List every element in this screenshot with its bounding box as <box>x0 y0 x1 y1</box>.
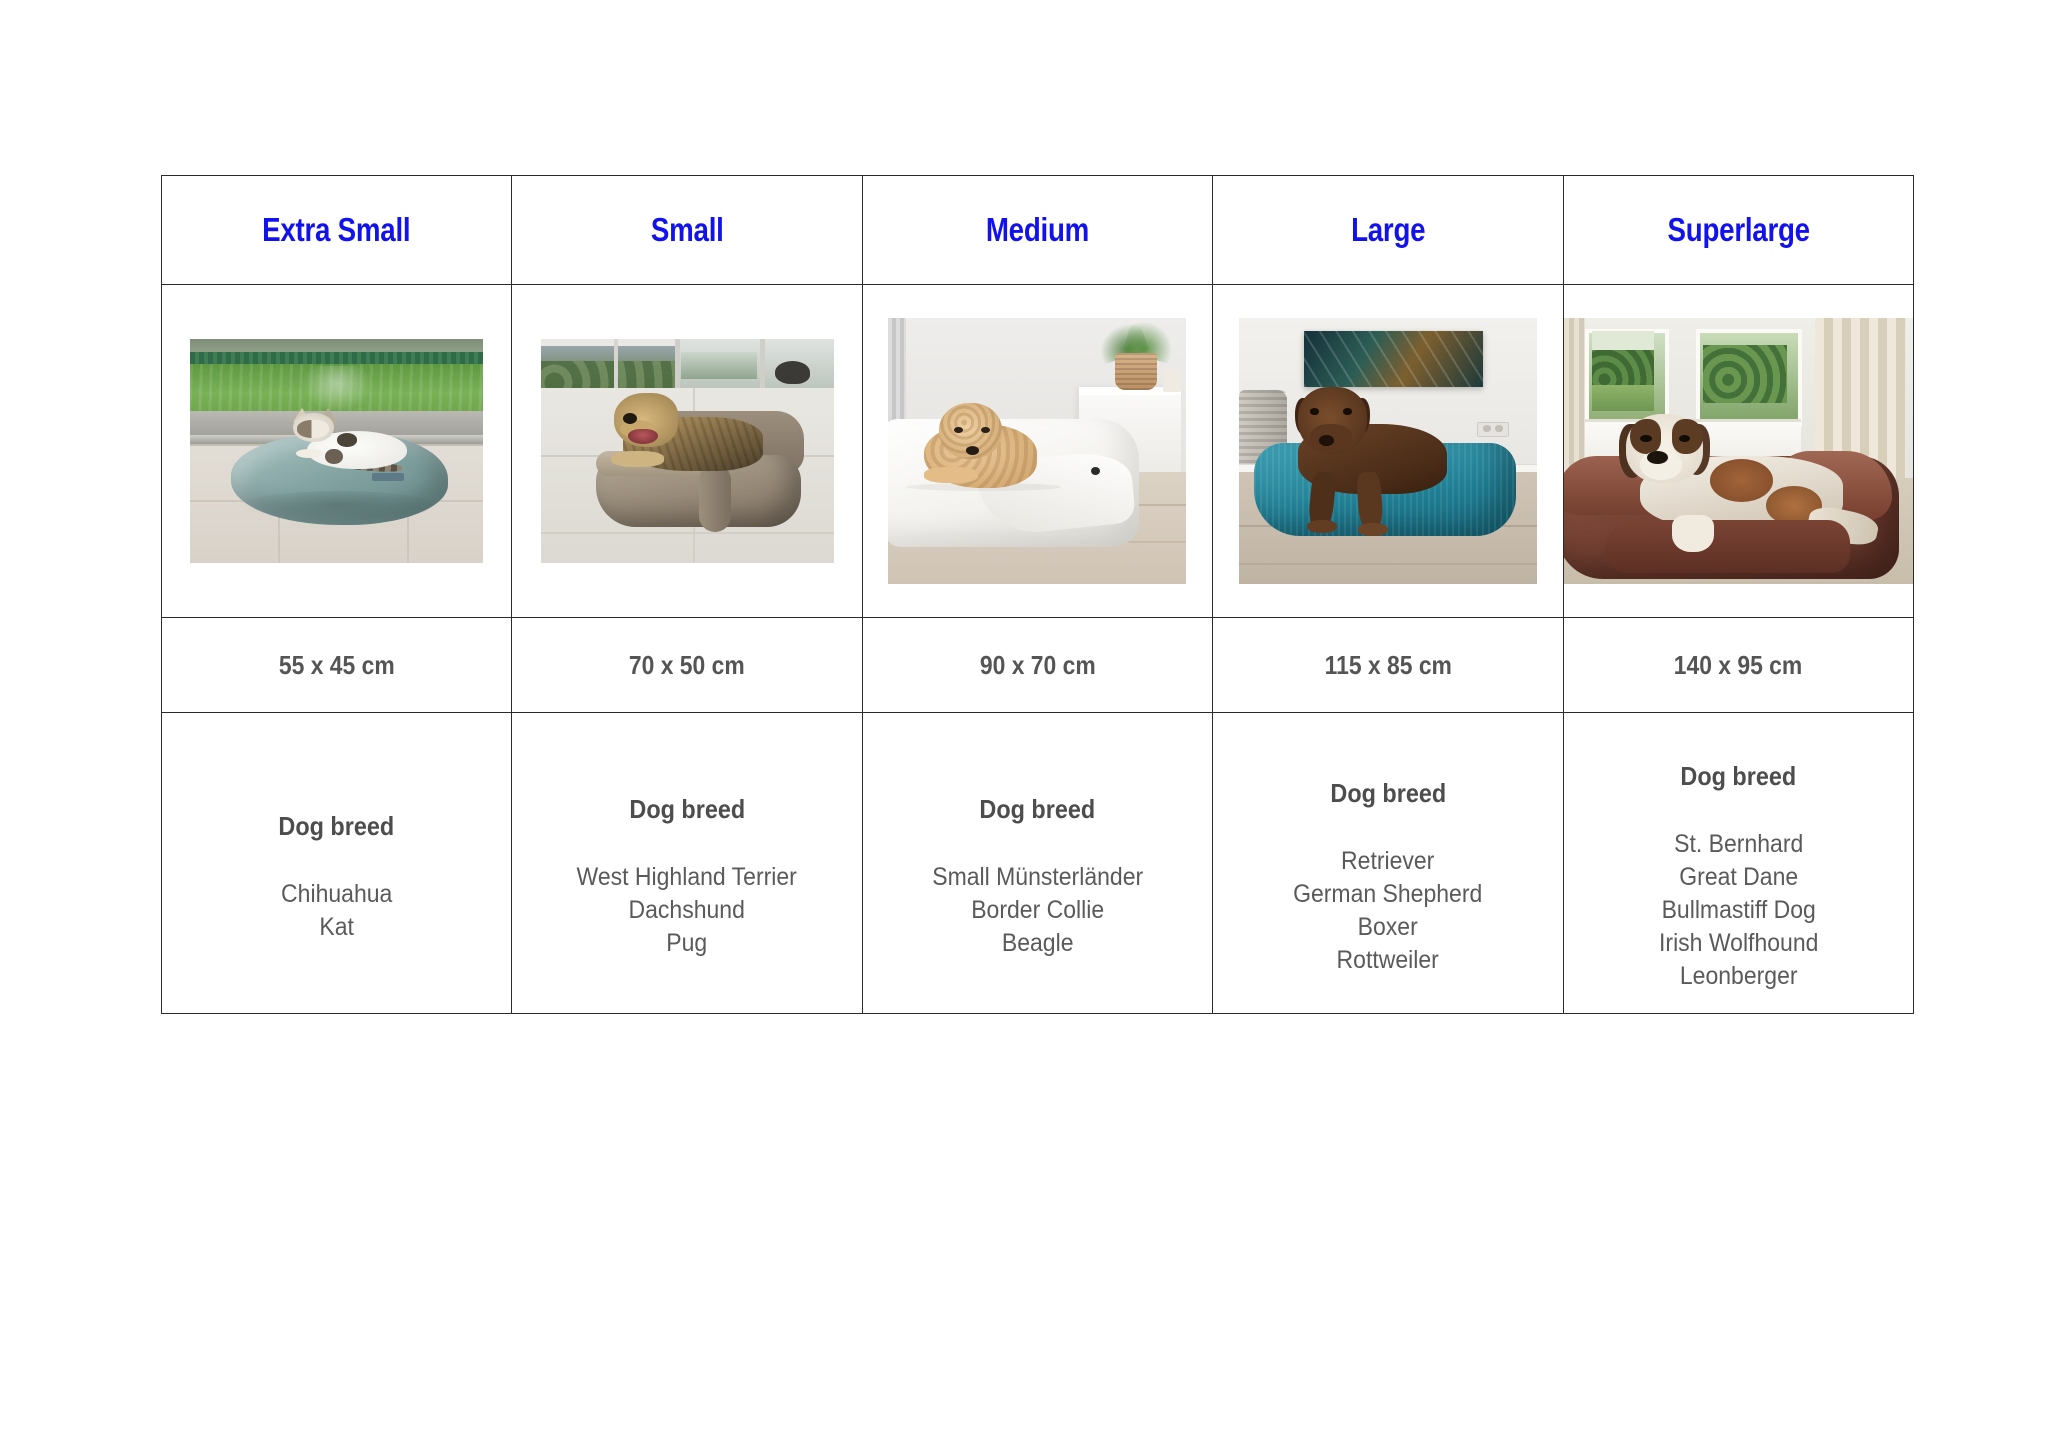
dimensions-cell-superlarge: 140 x 95 cm <box>1563 618 1913 713</box>
breed-item: German Shepherd <box>1227 878 1548 911</box>
size-name-large: Large <box>1351 211 1425 249</box>
photo-wrapper-large <box>1213 285 1562 617</box>
breed-item: Boxer <box>1227 911 1548 944</box>
dimensions-medium: 90 x 70 cm <box>980 650 1096 681</box>
dimensions-cell-medium: 90 x 70 cm <box>862 618 1212 713</box>
breed-item: Dachshund <box>526 894 847 927</box>
photo-wrapper-superlarge <box>1564 285 1913 617</box>
photo-cell-large <box>1213 285 1563 618</box>
breed-list-superlarge: St. Bernhard Great Dane Bullmastiff Dog … <box>1564 828 1913 993</box>
breed-item: Leonberger <box>1578 960 1899 993</box>
header-cell-extra-small: Extra Small <box>162 176 512 285</box>
dimensions-cell-large: 115 x 85 cm <box>1213 618 1563 713</box>
breed-item: Border Collie <box>877 894 1198 927</box>
table-photo-row <box>162 285 1914 618</box>
photo-cell-extra-small <box>162 285 512 618</box>
breeds-cell-medium: Dog breed Small Münsterländer Border Col… <box>862 713 1212 1014</box>
breed-list-small: West Highland Terrier Dachshund Pug <box>512 861 861 960</box>
breed-list-large: Retriever German Shepherd Boxer Rottweil… <box>1213 845 1562 977</box>
breed-title-superlarge: Dog breed <box>1680 761 1796 792</box>
header-cell-medium: Medium <box>862 176 1212 285</box>
breeds-cell-large: Dog breed Retriever German Shepherd Boxe… <box>1213 713 1563 1014</box>
breed-item: Pug <box>526 927 847 960</box>
breed-item: Retriever <box>1227 845 1548 878</box>
page-canvas: Extra Small Small Medium Large Superlarg… <box>0 0 2048 1448</box>
photo-small <box>541 339 834 563</box>
breeds-cell-small: Dog breed West Highland Terrier Dachshun… <box>512 713 862 1014</box>
breed-item: Bullmastiff Dog <box>1578 894 1899 927</box>
dimensions-extra-small: 55 x 45 cm <box>279 650 395 681</box>
dimensions-large: 115 x 85 cm <box>1324 650 1451 681</box>
breeds-cell-extra-small: Dog breed Chihuahua Kat <box>162 713 512 1014</box>
photo-cell-superlarge <box>1563 285 1913 618</box>
dog-bed-size-table: Extra Small Small Medium Large Superlarg… <box>161 175 1914 1014</box>
table-dimensions-row: 55 x 45 cm 70 x 50 cm 90 x 70 cm 115 x 8… <box>162 618 1914 713</box>
breed-item: Beagle <box>877 927 1198 960</box>
photo-extra-small <box>190 339 483 563</box>
photo-cell-small <box>512 285 862 618</box>
breed-list-medium: Small Münsterländer Border Collie Beagle <box>863 861 1212 960</box>
photo-wrapper-small <box>512 285 861 617</box>
table-header-row: Extra Small Small Medium Large Superlarg… <box>162 176 1914 285</box>
breed-item: Rottweiler <box>1227 944 1548 977</box>
breed-item: Irish Wolfhound <box>1578 927 1899 960</box>
size-name-superlarge: Superlarge <box>1667 211 1809 249</box>
breed-item: Great Dane <box>1578 861 1899 894</box>
breed-list-extra-small: Chihuahua Kat <box>162 878 511 944</box>
breed-title-small: Dog breed <box>629 794 745 825</box>
breed-title-medium: Dog breed <box>980 794 1096 825</box>
photo-wrapper-medium <box>863 285 1212 617</box>
photo-wrapper-extra-small <box>162 285 511 617</box>
breed-title-large: Dog breed <box>1330 778 1446 809</box>
dimensions-small: 70 x 50 cm <box>629 650 745 681</box>
breed-item: Kat <box>176 911 497 944</box>
photo-cell-medium <box>862 285 1212 618</box>
dimensions-superlarge: 140 x 95 cm <box>1674 650 1802 681</box>
dimensions-cell-small: 70 x 50 cm <box>512 618 862 713</box>
breed-title-extra-small: Dog breed <box>279 811 395 842</box>
photo-superlarge <box>1564 318 1913 584</box>
breed-item: St. Bernhard <box>1578 828 1899 861</box>
size-name-small: Small <box>651 211 724 249</box>
size-name-medium: Medium <box>986 211 1089 249</box>
photo-large <box>1239 318 1537 584</box>
breeds-cell-superlarge: Dog breed St. Bernhard Great Dane Bullma… <box>1563 713 1913 1014</box>
dimensions-cell-extra-small: 55 x 45 cm <box>162 618 512 713</box>
header-cell-superlarge: Superlarge <box>1563 176 1913 285</box>
header-cell-small: Small <box>512 176 862 285</box>
header-cell-large: Large <box>1213 176 1563 285</box>
size-name-extra-small: Extra Small <box>263 211 411 249</box>
table-breeds-row: Dog breed Chihuahua Kat Dog breed West H… <box>162 713 1914 1014</box>
photo-medium <box>888 318 1186 584</box>
breed-item: West Highland Terrier <box>526 861 847 894</box>
breed-item: Chihuahua <box>176 878 497 911</box>
breed-item: Small Münsterländer <box>877 861 1198 894</box>
